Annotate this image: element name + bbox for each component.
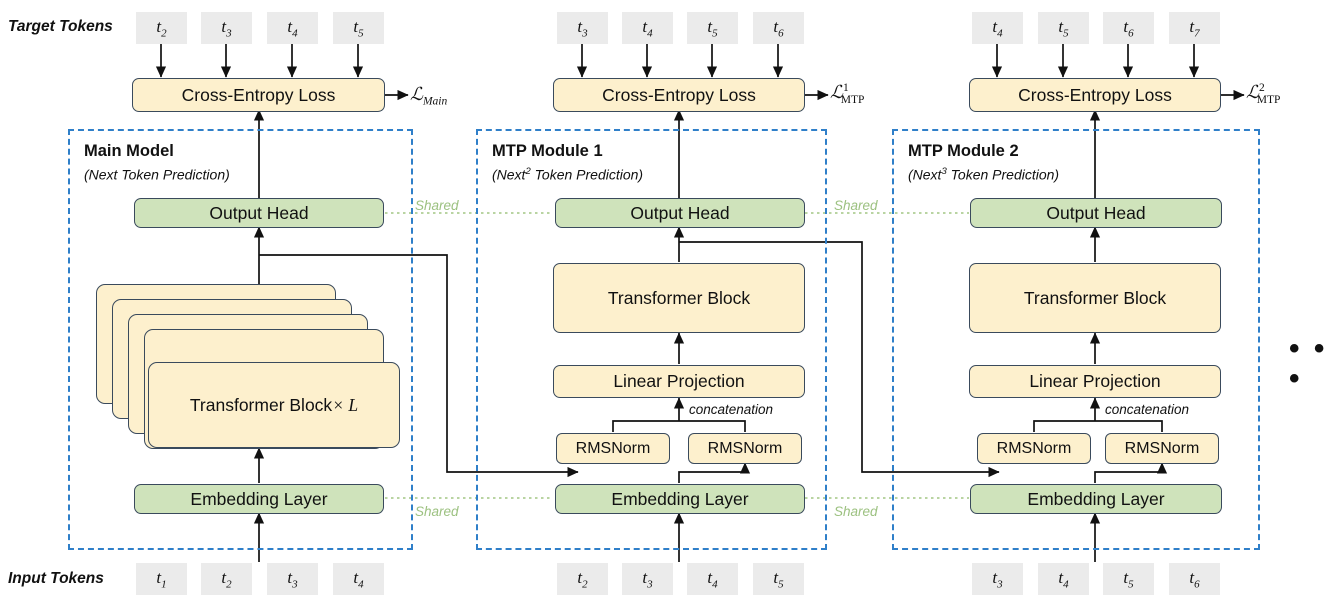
cross-entropy-loss-box-main: Cross-Entropy Loss [132, 78, 385, 112]
input-token: t4 [687, 563, 738, 595]
transformer-block-mtp-module-1: Transformer Block [553, 263, 805, 333]
input-token: t3 [267, 563, 318, 595]
module-title-mtp-module-2: MTP Module 2 [908, 142, 1019, 161]
embedding-layer-mtp-module-2: Embedding Layer [970, 484, 1222, 514]
target-token: t3 [557, 12, 608, 44]
loss-symbol-mtp1: ℒ1MTP [830, 82, 864, 106]
shared-label-output-head-2: Shared [834, 198, 878, 213]
shared-label-embedding-2: Shared [834, 504, 878, 519]
loss-symbol-mtp2: ℒ2MTP [1246, 82, 1280, 106]
concatenation-label-mtp-module-1: concatenation [689, 402, 773, 417]
module-subtitle-mtp-module-1: (Next2 Token Prediction) [492, 166, 643, 183]
input-tokens-row-label: Input Tokens [8, 570, 104, 588]
input-token: t4 [1038, 563, 1089, 595]
loss-symbol-main: ℒMain [410, 84, 447, 108]
shared-label-output-head-1: Shared [415, 198, 459, 213]
module-title-mtp-module-1: MTP Module 1 [492, 142, 603, 161]
module-title-main-model: Main Model [84, 142, 174, 161]
linear-projection-mtp-module-2: Linear Projection [969, 365, 1221, 398]
input-token: t2 [557, 563, 608, 595]
input-token: t3 [972, 563, 1023, 595]
target-token: t6 [1103, 12, 1154, 44]
target-token: t2 [136, 12, 187, 44]
output-head-main-model: Output Head [134, 198, 384, 228]
target-token: t6 [753, 12, 804, 44]
module-subtitle-mtp-module-2: (Next3 Token Prediction) [908, 166, 1059, 183]
target-token: t7 [1169, 12, 1220, 44]
linear-projection-mtp-module-1: Linear Projection [553, 365, 805, 398]
target-token: t5 [1038, 12, 1089, 44]
cross-entropy-loss-box-mtp1: Cross-Entropy Loss [553, 78, 805, 112]
target-token: t4 [972, 12, 1023, 44]
transformer-block-mtp-module-2: Transformer Block [969, 263, 1221, 333]
shared-label-embedding-1: Shared [415, 504, 459, 519]
target-token: t4 [267, 12, 318, 44]
input-token: t3 [622, 563, 673, 595]
target-token: t5 [687, 12, 738, 44]
input-token: t6 [1169, 563, 1220, 595]
module-subtitle-main-model: (Next Token Prediction) [84, 166, 230, 183]
diagram-canvas: Target Tokens Input Tokens t2 t3 t4 t5 t… [0, 0, 1336, 605]
rmsnorm-left-mtp-module-2: RMSNorm [977, 433, 1091, 464]
target-token: t3 [201, 12, 252, 44]
embedding-layer-mtp-module-1: Embedding Layer [555, 484, 805, 514]
output-head-mtp-module-2: Output Head [970, 198, 1222, 228]
rmsnorm-right-mtp-module-2: RMSNorm [1105, 433, 1219, 464]
rmsnorm-left-mtp-module-1: RMSNorm [556, 433, 670, 464]
input-token: t2 [201, 563, 252, 595]
target-token: t4 [622, 12, 673, 44]
input-token: t5 [753, 563, 804, 595]
target-token: t5 [333, 12, 384, 44]
target-tokens-row-label: Target Tokens [8, 18, 113, 36]
continuation-ellipsis: • • • [1289, 334, 1336, 394]
input-token: t4 [333, 563, 384, 595]
concatenation-label-mtp-module-2: concatenation [1105, 402, 1189, 417]
input-token: t1 [136, 563, 187, 595]
transformer-block-main-model: Transformer Block × L [148, 362, 400, 448]
input-token: t5 [1103, 563, 1154, 595]
cross-entropy-loss-box-mtp2: Cross-Entropy Loss [969, 78, 1221, 112]
output-head-mtp-module-1: Output Head [555, 198, 805, 228]
rmsnorm-right-mtp-module-1: RMSNorm [688, 433, 802, 464]
embedding-layer-main-model: Embedding Layer [134, 484, 384, 514]
